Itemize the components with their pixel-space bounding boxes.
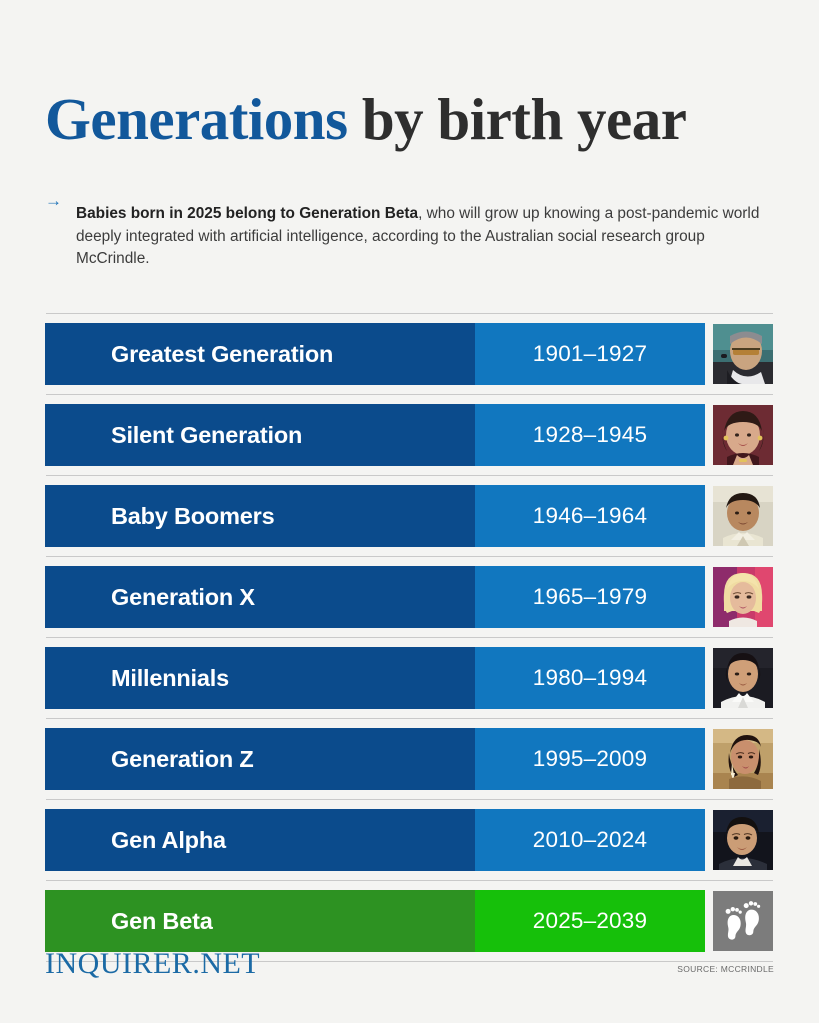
birth-years-value: 1980–1994: [533, 665, 647, 691]
generation-name: Generation Z: [111, 746, 254, 773]
portrait-young-man-white-shirt: [713, 648, 773, 708]
row-divider: [46, 880, 773, 881]
subtitle-text: Babies born in 2025 belong to Generation…: [76, 203, 774, 270]
generation-label-cell: Greatest Generation: [45, 323, 475, 385]
birth-years-value: 1995–2009: [533, 746, 647, 772]
table-row[interactable]: Gen Alpha2010–2024: [45, 809, 774, 871]
generation-label-cell: Millennials: [45, 647, 475, 709]
birth-years-cell: 1965–1979: [475, 566, 705, 628]
generation-name: Generation X: [111, 584, 255, 611]
birth-years-value: 1928–1945: [533, 422, 647, 448]
portrait-young-woman-gold: [713, 729, 773, 789]
birth-years-cell: 2025–2039: [475, 890, 705, 952]
generations-table: Greatest Generation1901–1927 Silent Gene…: [45, 313, 774, 962]
generation-label-cell: Generation Z: [45, 728, 475, 790]
page-title-rest: by birth year: [348, 86, 687, 152]
birth-years-cell: 2010–2024: [475, 809, 705, 871]
generation-label-cell: Silent Generation: [45, 404, 475, 466]
birth-years-value: 1901–1927: [533, 341, 647, 367]
birth-years-cell: 1980–1994: [475, 647, 705, 709]
birth-years-cell: 1995–2009: [475, 728, 705, 790]
page-title-highlight: Generations: [45, 86, 348, 152]
table-row[interactable]: Silent Generation1928–1945: [45, 404, 774, 466]
birth-years-value: 1946–1964: [533, 503, 647, 529]
generation-name: Millennials: [111, 665, 229, 692]
table-row[interactable]: Greatest Generation1901–1927: [45, 323, 774, 385]
portrait-elderly-man-glasses: [713, 324, 773, 384]
row-divider: [46, 556, 773, 557]
generation-name: Greatest Generation: [111, 341, 333, 368]
portrait-older-woman-maroon: [713, 405, 773, 465]
inquirer-logo: INQUIRER.NET: [45, 949, 260, 979]
table-row[interactable]: Millennials1980–1994: [45, 647, 774, 709]
generation-label-cell: Baby Boomers: [45, 485, 475, 547]
page-title: Generations by birth year: [45, 40, 774, 149]
row-divider: [46, 475, 773, 476]
generation-name: Gen Alpha: [111, 827, 226, 854]
subtitle-block: → Babies born in 2025 belong to Generati…: [45, 188, 774, 285]
subtitle-lead: Babies born in 2025 belong to Generation…: [76, 205, 418, 222]
birth-years-cell: 1946–1964: [475, 485, 705, 547]
source-credit: SOURCE: MCCRINDLE: [677, 964, 774, 979]
generation-name: Gen Beta: [111, 908, 213, 935]
portrait-blonde-bob-pink: [713, 567, 773, 627]
row-divider: [46, 799, 773, 800]
birth-years-value: 2010–2024: [533, 827, 647, 853]
generation-label-cell: Gen Beta: [45, 890, 475, 952]
birth-years-value: 1965–1979: [533, 584, 647, 610]
birth-years-cell: 1928–1945: [475, 404, 705, 466]
baby-footprints-icon: [713, 891, 773, 951]
generation-name: Baby Boomers: [111, 503, 274, 530]
table-row[interactable]: Baby Boomers1946–1964: [45, 485, 774, 547]
row-divider: [46, 394, 773, 395]
generation-label-cell: Gen Alpha: [45, 809, 475, 871]
table-row[interactable]: Generation X1965–1979: [45, 566, 774, 628]
row-divider: [46, 718, 773, 719]
birth-years-cell: 1901–1927: [475, 323, 705, 385]
row-divider: [46, 637, 773, 638]
arrow-right-icon: →: [45, 188, 63, 285]
portrait-man-light-shirt: [713, 486, 773, 546]
infographic-page: Generations by birth year → Babies born …: [0, 0, 819, 1023]
table-row[interactable]: Gen Beta2025–2039: [45, 890, 774, 952]
generation-label-cell: Generation X: [45, 566, 475, 628]
table-row[interactable]: Generation Z1995–2009: [45, 728, 774, 790]
portrait-child-dark: [713, 810, 773, 870]
birth-years-value: 2025–2039: [533, 908, 647, 934]
generation-name: Silent Generation: [111, 422, 302, 449]
footer: INQUIRER.NET SOURCE: MCCRINDLE: [45, 949, 774, 979]
row-divider: [46, 313, 773, 314]
